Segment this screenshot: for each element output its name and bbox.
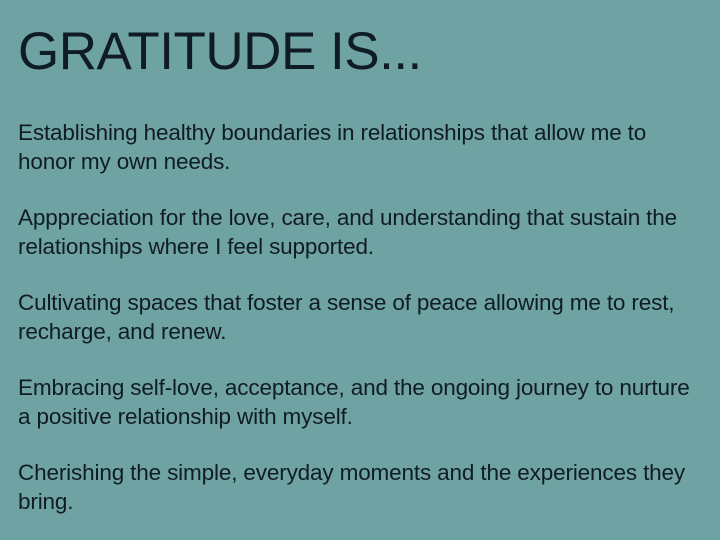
statement-item: Cultivating spaces that foster a sense o… — [18, 288, 702, 346]
page-title: GRATITUDE IS... — [18, 24, 422, 80]
gratitude-poster: GRATITUDE IS... Establishing healthy bou… — [0, 0, 720, 540]
statement-item: Embracing self-love, acceptance, and the… — [18, 373, 702, 431]
statement-list: Establishing healthy boundaries in relat… — [18, 118, 702, 516]
statement-item: Apppreciation for the love, care, and un… — [18, 203, 702, 261]
statement-item: Cherishing the simple, everyday moments … — [18, 458, 702, 516]
statement-item: Establishing healthy boundaries in relat… — [18, 118, 702, 176]
